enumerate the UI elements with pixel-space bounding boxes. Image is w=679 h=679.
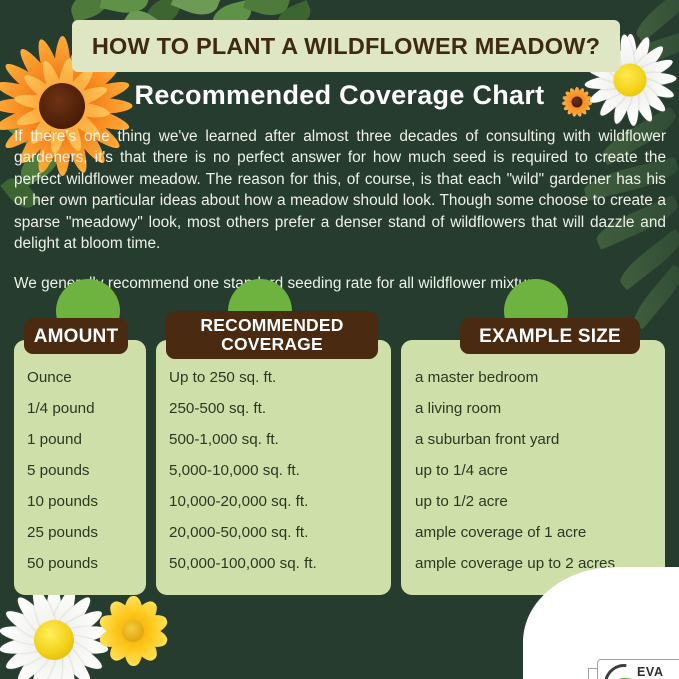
table-row: 1 pound [14, 424, 146, 455]
table-row: Up to 250 sq. ft. [156, 362, 391, 393]
table-row: 10,000-20,000 sq. ft. [156, 486, 391, 517]
table-row: 50 pounds [14, 548, 146, 579]
table-row: 1/4 pound [14, 393, 146, 424]
title-banner: HOW TO PLANT A WILDFLOWER MEADOW? [72, 20, 620, 72]
table-row: a master bedroom [401, 362, 665, 393]
page-title: HOW TO PLANT A WILDFLOWER MEADOW? [92, 33, 600, 60]
flower-center [34, 620, 74, 660]
bamboo-leaf-icon [631, 0, 679, 42]
column-header-amount: AMOUNT [24, 318, 128, 354]
table-row: up to 1/4 acre [401, 455, 665, 486]
intro-block: If there's one thing we've learned after… [14, 126, 666, 295]
flower-center [122, 620, 144, 642]
table-row: up to 1/2 acre [401, 486, 665, 517]
cell-list-example: a master bedroom a living room a suburba… [401, 362, 665, 579]
cell-list-amount: Ounce 1/4 pound 1 pound 5 pounds 10 poun… [14, 362, 146, 579]
column-header-coverage-line1: RECOMMENDED [200, 316, 343, 335]
column-header-coverage-line2: COVERAGE [200, 335, 343, 354]
table-row: ample coverage of 1 acre [401, 517, 665, 548]
leaf-cluster-right-top [619, 0, 679, 90]
table-row: a suburban front yard [401, 424, 665, 455]
table-column-amount: Ounce 1/4 pound 1 pound 5 pounds 10 poun… [14, 340, 146, 595]
petal-ring [90, 588, 176, 674]
table-row: 500-1,000 sq. ft. [156, 424, 391, 455]
column-header-coverage: RECOMMENDED COVERAGE [166, 311, 378, 359]
table-row: 25 pounds [14, 517, 146, 548]
leaf-icon [100, 0, 151, 17]
subtitle-row: Recommended Coverage Chart [0, 80, 679, 111]
logo-line-1: EVA [637, 664, 670, 679]
cell-list-coverage: Up to 250 sq. ft. 250-500 sq. ft. 500-1,… [156, 362, 391, 579]
leaf-icon [171, 0, 222, 21]
table-row: 20,000-50,000 sq. ft. [156, 517, 391, 548]
table-row: 5,000-10,000 sq. ft. [156, 455, 391, 486]
table-row: 250-500 sq. ft. [156, 393, 391, 424]
table-column-example: a master bedroom a living room a suburba… [401, 340, 665, 595]
table-row: Ounce [14, 362, 146, 393]
eva-grow-logo[interactable]: EVA ROW [597, 659, 679, 679]
bamboo-leaf-icon [620, 29, 679, 71]
yellow-coreopsis-flower-icon [90, 588, 176, 674]
leaf-icon [243, 0, 291, 21]
table-row: a living room [401, 393, 665, 424]
table-row: 50,000-100,000 sq. ft. [156, 548, 391, 579]
table-row: 10 pounds [14, 486, 146, 517]
logo-text: EVA ROW [637, 664, 670, 679]
coverage-table: Ounce 1/4 pound 1 pound 5 pounds 10 poun… [0, 300, 679, 600]
infographic-canvas: HOW TO PLANT A WILDFLOWER MEADOW? Recomm… [0, 0, 679, 679]
page-subtitle: Recommended Coverage Chart [135, 80, 545, 111]
table-row: 5 pounds [14, 455, 146, 486]
column-header-example: EXAMPLE SIZE [460, 318, 640, 354]
table-column-coverage: Up to 250 sq. ft. 250-500 sq. ft. 500-1,… [156, 340, 391, 595]
intro-paragraph-main: If there's one thing we've learned after… [14, 126, 666, 254]
